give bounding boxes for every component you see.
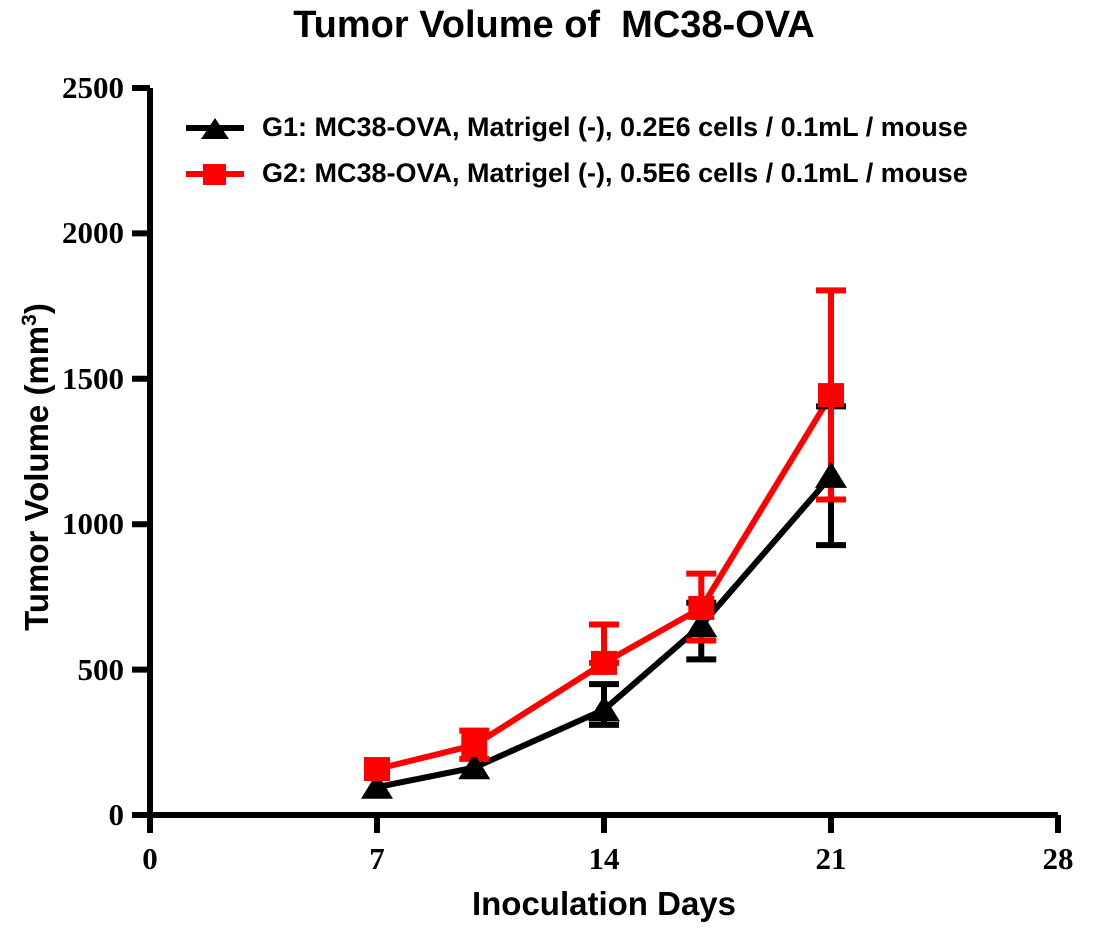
data-series bbox=[361, 290, 847, 798]
y-tick-label: 2000 bbox=[0, 215, 124, 251]
y-tick-label: 500 bbox=[0, 652, 124, 688]
x-tick-label: 28 bbox=[1043, 841, 1074, 877]
plot-area bbox=[0, 0, 1108, 933]
chart-figure: Tumor Volume of MC38-OVA Tumor Volume (m… bbox=[0, 0, 1108, 933]
data-point-square bbox=[688, 596, 714, 620]
data-point-square bbox=[818, 383, 844, 407]
x-tick-label: 0 bbox=[142, 841, 158, 877]
x-tick-label: 21 bbox=[816, 841, 847, 877]
x-tick-label: 14 bbox=[589, 841, 620, 877]
y-tick-label: 0 bbox=[0, 797, 124, 833]
data-point-square bbox=[461, 733, 487, 757]
y-tick-label: 1000 bbox=[0, 506, 124, 542]
data-point-square bbox=[364, 757, 390, 781]
y-tick-label: 1500 bbox=[0, 361, 124, 397]
x-tick-label: 7 bbox=[369, 841, 385, 877]
data-point-triangle bbox=[815, 462, 847, 488]
y-tick-label: 2500 bbox=[0, 70, 124, 106]
data-point-square bbox=[591, 651, 617, 675]
